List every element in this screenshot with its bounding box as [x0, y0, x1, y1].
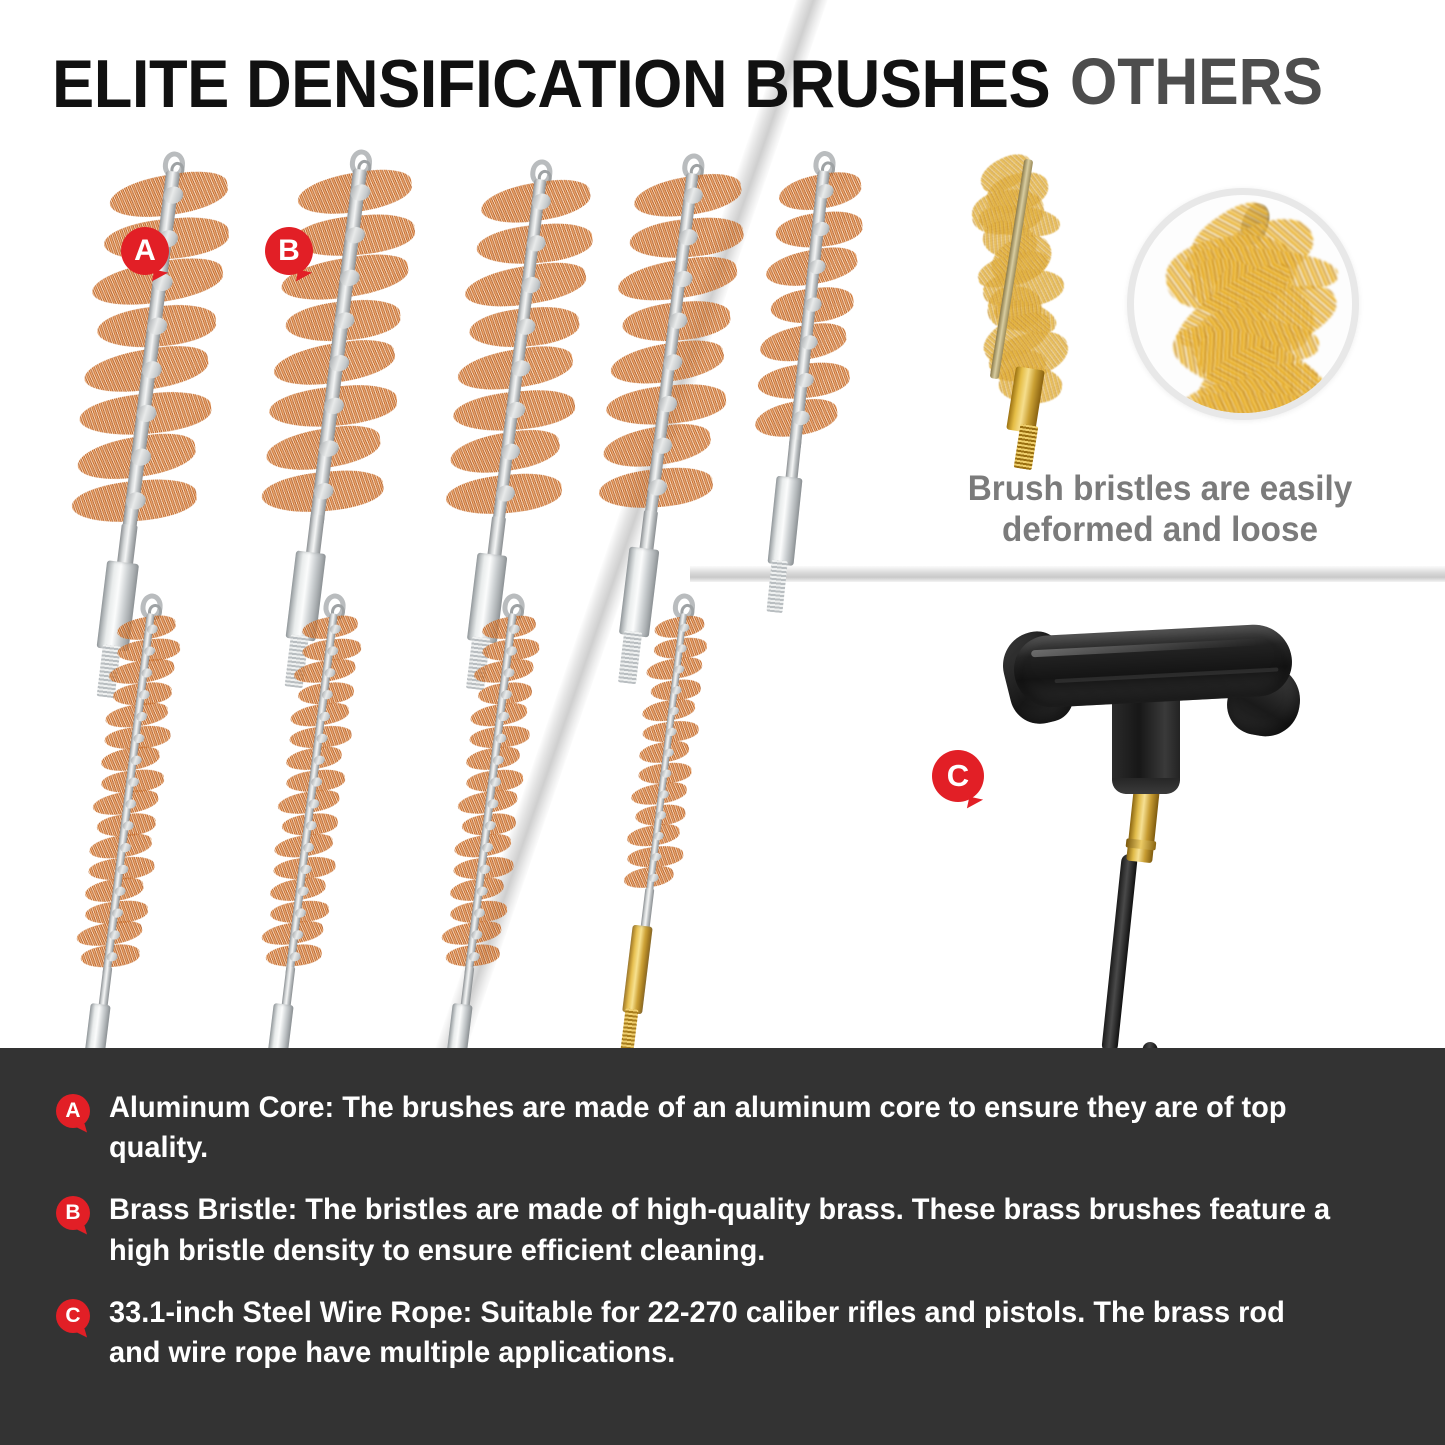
others-title: OTHERS	[1070, 48, 1323, 114]
brush-twisted-shaft	[487, 516, 506, 559]
handle-grip-bar	[1012, 623, 1293, 709]
brass-ferrule	[1126, 787, 1160, 863]
brush-aluminum-ferrule	[80, 1003, 111, 1048]
brush-twisted-shaft	[305, 514, 325, 557]
brush-twisted-shaft	[281, 966, 295, 1009]
horizontal-divider	[690, 566, 1445, 582]
infographic-page: ELITE DENSIFICATION BRUSHES OTHERS A B C…	[0, 0, 1445, 1445]
callout-badge-c: C	[932, 750, 984, 802]
footer-badge-a: A	[56, 1094, 90, 1128]
footer-badge-b: B	[56, 1196, 90, 1230]
magnified-bristles-inset	[1127, 188, 1359, 420]
footer-feature-item: C33.1-inch Steel Wire Rope: Suitable for…	[56, 1293, 1389, 1373]
brush-threaded-tip	[618, 630, 642, 684]
brush-twisted-shaft	[460, 966, 474, 1009]
brush-large-2	[237, 140, 437, 575]
brush-thin-1	[62, 589, 192, 1025]
others-caption-line1: Brush bristles are easily	[918, 468, 1403, 509]
brush-twisted-shaft	[785, 439, 802, 482]
brush-thin-2	[246, 589, 374, 1025]
footer-feature-item: BBrass Bristle: The bristles are made of…	[56, 1190, 1389, 1270]
footer-feature-text: Aluminum Core: The brushes are made of a…	[109, 1088, 1344, 1168]
others-caption-line2: deformed and loose	[918, 509, 1403, 550]
brush-thin-4	[600, 589, 721, 1014]
brush-threaded-tip	[619, 1008, 638, 1048]
brush-twisted-shaft	[98, 966, 112, 1009]
wire-rope-upper	[1101, 853, 1138, 1048]
deformed-brush-icon	[955, 150, 1075, 460]
feature-list-footer: AAluminum Core: The brushes are made of …	[0, 1048, 1445, 1445]
footer-feature-item: AAluminum Core: The brushes are made of …	[56, 1088, 1389, 1168]
brush-twisted-shaft	[117, 524, 137, 568]
product-photo-area: ELITE DENSIFICATION BRUSHES OTHERS A B C…	[0, 0, 1445, 1048]
footer-feature-text: Brass Bristle: The bristles are made of …	[109, 1190, 1344, 1270]
page-title: ELITE DENSIFICATION BRUSHES	[52, 50, 1050, 118]
footer-feature-text: 33.1-inch Steel Wire Rope: Suitable for …	[109, 1293, 1344, 1373]
brush-brass-ferrule	[622, 925, 653, 1015]
brush-aluminum-ferrule	[767, 476, 803, 566]
brush-aluminum-ferrule	[263, 1003, 294, 1048]
brush-twisted-shaft	[640, 888, 654, 931]
brush-twisted-shaft	[639, 510, 658, 553]
others-caption: Brush bristles are easily deformed and l…	[918, 468, 1403, 551]
callout-badge-a: A	[121, 227, 169, 275]
footer-badge-c: C	[56, 1299, 90, 1333]
callout-badge-b: B	[265, 227, 313, 275]
brush-large-1	[50, 142, 250, 577]
t-handle-icon	[1000, 612, 1320, 1032]
